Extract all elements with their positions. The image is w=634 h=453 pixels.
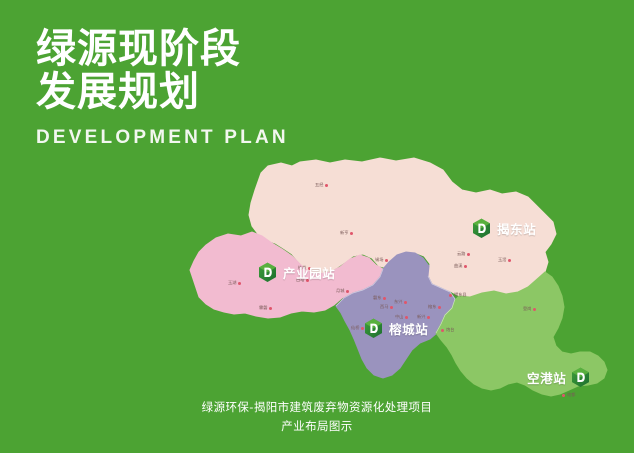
city-dot-icon [449,294,452,297]
city-label: 榕东 [428,304,441,310]
city-dot-icon [325,184,328,187]
caption-line2: 产业布局图示 [0,417,634,436]
page-title-line2: 发展规划 [36,71,366,114]
city-name: 玉滘 [498,257,506,263]
city-name: 东兴 [394,299,402,305]
city-label: 月城 [336,288,349,294]
city-name: 新亨 [340,230,348,236]
station-label-jiedong: 揭东站 [497,219,536,238]
station-marker-industrial-park[interactable]: 产业园站 [258,262,335,283]
city-name: 霖磐 [259,305,267,311]
city-name: 月城 [336,288,344,294]
city-name: 曲溪 [454,263,462,269]
city-dot-icon [383,297,386,300]
hex-leaf-icon [472,218,491,239]
city-name: 炮台 [446,327,454,333]
hex-leaf-icon [364,318,383,339]
city-label: 云路 [457,251,470,257]
city-label: 新亨 [340,230,353,236]
city-dot-icon [390,306,393,309]
city-dot-icon [441,329,444,332]
city-name: 云路 [457,251,465,257]
city-label: 东兴 [394,299,407,305]
city-label: 西马 [380,304,393,310]
hex-leaf-icon [258,262,277,283]
city-dot-icon [385,259,388,262]
page-title-line1: 绿源现阶段 [36,28,366,71]
city-label: 炮台 [441,327,456,333]
city-dot-icon [562,394,565,397]
city-label: 霖磐 [259,305,272,311]
city-name: 登岗 [523,306,531,312]
city-dot-icon [269,307,272,310]
figure-caption: 绿源环保-揭阳市建筑废弃物资源化处理项目 产业布局图示 [0,398,634,436]
city-name: 揭东县 [454,292,467,298]
station-marker-rongcheng[interactable]: 榕城站 [364,318,428,339]
city-dot-icon [533,308,536,311]
city-name: 磐东 [373,295,381,301]
city-label: 锡场 [375,257,388,263]
city-name: 玉湖 [228,280,236,286]
city-label: 五经 [315,182,328,188]
title-block: 绿源现阶段 发展规划 DEVELOPMENT PLAN [36,28,366,149]
station-label-airport: 空港站 [527,368,566,387]
caption-line1: 绿源环保-揭阳市建筑废弃物资源化处理项目 [0,398,634,417]
city-dot-icon [464,265,467,268]
station-marker-jiedong[interactable]: 揭东站 [472,218,536,239]
city-dot-icon [508,259,511,262]
city-dot-icon [238,282,241,285]
city-label: 玉湖 [228,280,243,286]
city-dot-icon [346,290,349,293]
city-label: 玉滘 [498,257,511,263]
city-dot-icon [438,306,441,309]
city-label: 仙桥 [351,325,364,331]
city-label: 登岗 [523,306,536,312]
city-label: 磐东 [373,295,386,301]
city-label: 揭东县 [449,292,469,298]
station-marker-airport[interactable]: 空港站 [527,367,590,388]
station-label-industrial-park: 产业园站 [283,263,335,282]
page-subtitle: DEVELOPMENT PLAN [36,127,366,149]
poster-canvas: 绿源现阶段 发展规划 DEVELOPMENT PLAN 产业园站 揭东站 [0,0,634,453]
city-name: 锡场 [375,257,383,263]
city-dot-icon [467,253,470,256]
city-name: 五经 [315,182,323,188]
city-dot-icon [350,232,353,235]
city-label: 曲溪 [454,263,467,269]
city-dot-icon [404,301,407,304]
station-label-rongcheng: 榕城站 [389,319,428,338]
hex-leaf-icon [571,367,590,388]
city-name: 仙桥 [351,325,359,331]
city-name: 西马 [380,304,388,310]
city-name: 榕东 [428,304,436,310]
